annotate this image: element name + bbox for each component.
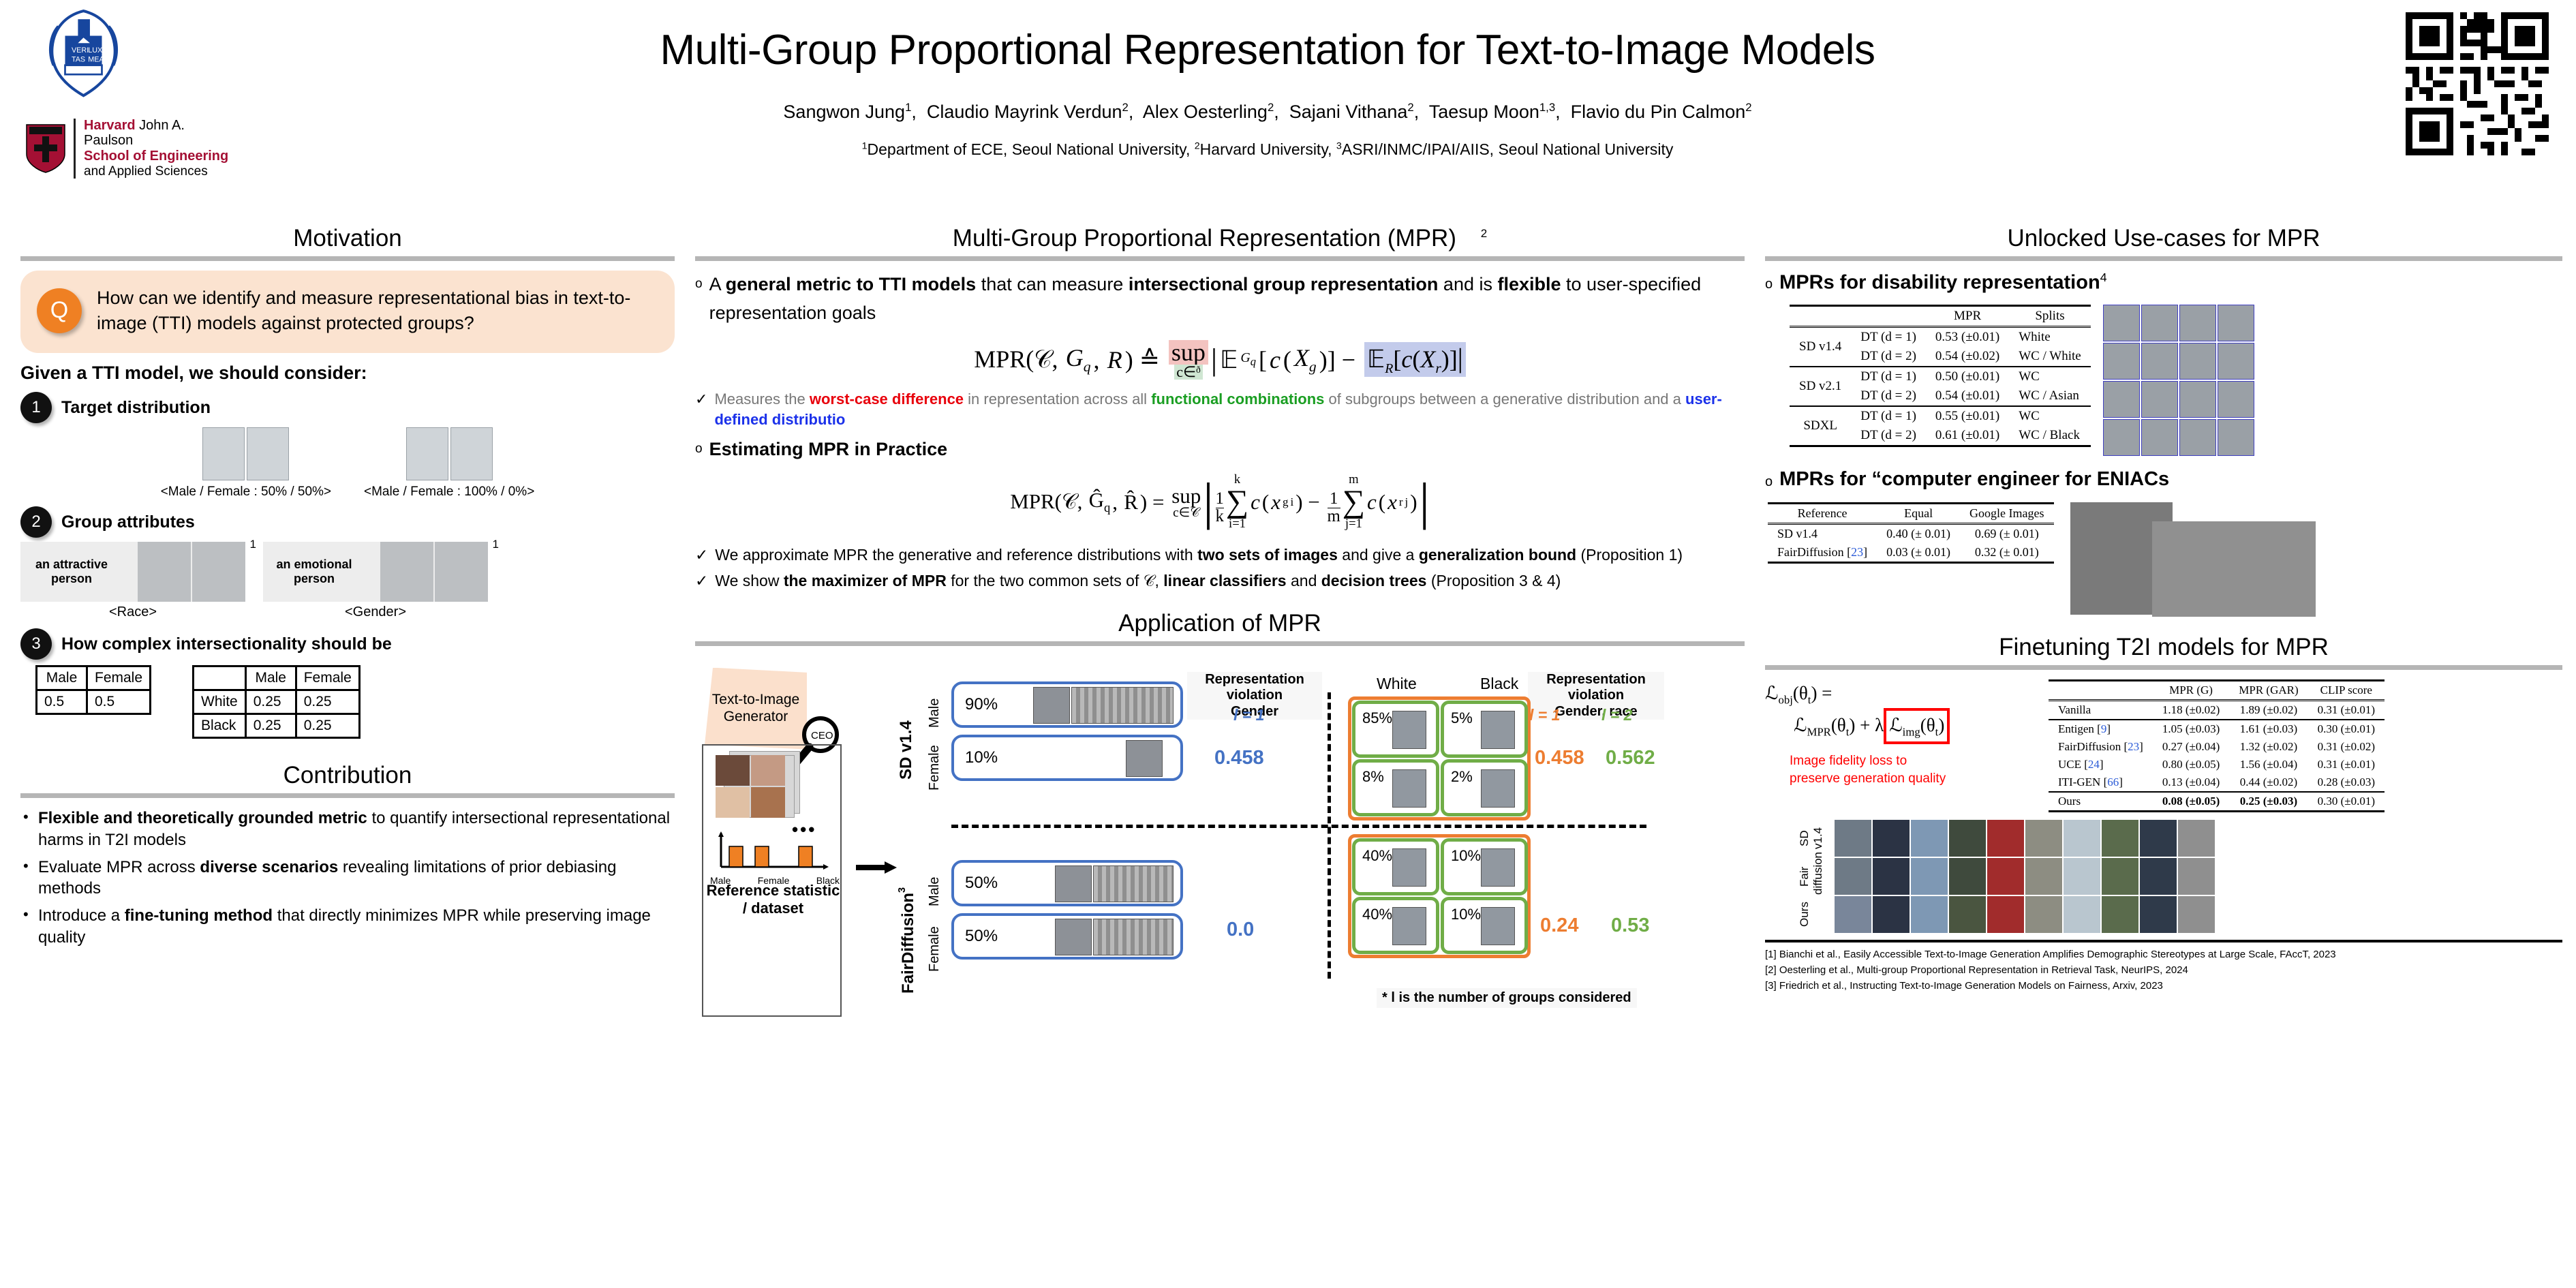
check2-b1: two sets of images	[1197, 546, 1338, 564]
photo-thumb	[1481, 848, 1515, 887]
l-value-2-gr: l = 2	[1601, 706, 1632, 724]
col-google: Google Images	[1960, 504, 2053, 524]
gender-label-female-sd: Female	[927, 737, 942, 791]
loss-line-2: ℒMPR(θt) + λ ℒimg(θt)	[1794, 708, 2044, 743]
attribute-prompt-2: an emotional person	[263, 557, 365, 586]
cell-mpr: 0.54 (±0.02)	[1926, 347, 2009, 367]
check-icon: ✓	[695, 544, 708, 566]
photo-wheelchair	[2141, 381, 2178, 418]
cell-model-sdxl: SDXL	[1790, 406, 1851, 446]
cell-name-text: FairDiffusion	[1777, 545, 1844, 559]
grid-cell-fd-black-female: 10%	[1441, 897, 1528, 954]
usecase-bullet-disability: o MPRs for disability representation4	[1765, 271, 2562, 298]
table-row: 0.5 0.5	[37, 690, 151, 714]
cell-mpr: 0.54 (±0.01)	[1926, 386, 2009, 406]
target-pair-2: <Male / Female : 100% / 0%>	[364, 427, 534, 500]
photo-thumb	[1481, 907, 1515, 945]
cell-method-entigen: Entigen [9]	[2049, 720, 2153, 738]
col-dt	[1851, 306, 1926, 327]
check3-b2: linear classifiers	[1163, 572, 1286, 589]
pct-value: 10%	[1451, 906, 1481, 923]
table-eniac-mpr: Reference Equal Google Images SD v1.4 0.…	[1768, 502, 2054, 564]
cell-splits: WC / Black	[2009, 426, 2090, 446]
target-caption-2: <Male / Female : 100% / 0%>	[364, 485, 534, 500]
grid-cell-sd-white-male: 85%	[1352, 701, 1439, 758]
photo-wheelchair	[2218, 419, 2254, 456]
cell-dt: DT (d = 1)	[1851, 327, 1926, 348]
photo-pair	[161, 427, 331, 480]
col-splits: Splits	[2009, 306, 2090, 327]
cell-splits: WC	[2009, 406, 2090, 426]
section-title-application: Application of MPR	[695, 610, 1745, 637]
check3-b3: decision trees	[1321, 572, 1427, 589]
photo-pope-1	[406, 427, 448, 480]
photo-generated	[1873, 820, 1910, 857]
contrib-bold-2: diverse scenarios	[200, 858, 338, 876]
grid-row-label-ours: Ours	[1798, 896, 1829, 933]
usecase-bullet-1-sup: 4	[2100, 271, 2107, 284]
target-pair-1: <Male / Female : 50% / 50%>	[161, 427, 331, 500]
photo-generated	[1835, 820, 1871, 857]
given-tti-line: Given a TTI model, we should consider:	[20, 363, 675, 384]
l-value-gender: l = 1	[1233, 706, 1264, 724]
wheelchair-photo-grid	[2103, 305, 2254, 456]
contrib-pre-2: Evaluate MPR across	[38, 858, 200, 876]
pct-value: 40%	[1362, 847, 1392, 865]
cell-splits: WC / Asian	[2009, 386, 2090, 406]
photo-thumb	[1481, 769, 1515, 808]
usecase-bullet-1-text: MPRs for disability representation	[1779, 272, 2100, 294]
column-header-white: White	[1377, 675, 1417, 693]
col-reference: Reference	[1768, 504, 1877, 524]
col-mpr-gar: MPR (GAR)	[2229, 681, 2307, 701]
cell-clip: 0.31 (±0.02)	[2308, 738, 2385, 756]
pct-value-fd-male: 50%	[965, 874, 998, 893]
motivation-question-box: Q How can we identify and measure repres…	[20, 271, 675, 353]
photo-emotional-1	[380, 542, 433, 602]
page-title: Multi-Group Proportional Representation …	[436, 26, 2099, 74]
photo-generated	[2064, 820, 2100, 857]
photo-attractive-male	[138, 542, 191, 602]
contrib-bold-1: Flexible and theoretically grounded metr…	[38, 809, 367, 827]
table-row: Reference Equal Google Images	[1768, 504, 2054, 524]
grid-cell-sd-black-male: 5%	[1441, 701, 1528, 758]
col-mpr: MPR	[1926, 306, 2009, 327]
photo-generated	[1949, 896, 1986, 933]
table-row: MPR (G) MPR (GAR) CLIP score	[2049, 681, 2385, 701]
attribute-card-emotional: an emotional person 1	[263, 542, 488, 602]
grid-row-label-fairdiffusion: Fair diffusion	[1798, 858, 1829, 895]
usecase-bullet-eniac: o MPRs for “computer engineer for ENIACs	[1765, 468, 2562, 495]
grid-cell-sd-black-female: 2%	[1441, 759, 1528, 816]
cell-model-sd21: SD v2.1	[1790, 367, 1851, 406]
photo-wheelchair	[2179, 343, 2216, 380]
citation-ref[interactable]: 9	[2101, 722, 2107, 735]
consideration-label-2: Group attributes	[61, 512, 195, 532]
column-center: Multi-Group Proportional Representation …	[695, 225, 1745, 1037]
harvard-seas-logo: Harvard John A. Paulson School of Engine…	[26, 106, 230, 191]
photo-generated	[1835, 858, 1871, 895]
section-rule	[20, 256, 675, 261]
consideration-item-1: 1 Target distribution	[20, 392, 675, 423]
photo-generated	[2140, 896, 2177, 933]
photo-generated	[1987, 820, 2024, 857]
cell-black-male: 0.25	[245, 714, 296, 738]
photo-row	[2103, 419, 2254, 456]
photo-attractive-female	[192, 542, 245, 602]
cell-white-female: 0.25	[296, 690, 359, 714]
photo-thumb	[1126, 740, 1163, 777]
pct-value: 8%	[1362, 768, 1384, 786]
attribute-footnote-1: 1	[250, 538, 256, 551]
photo-generated	[2064, 858, 2100, 895]
reference-bar-chart	[716, 831, 831, 878]
table-row	[1768, 563, 2054, 564]
cell-row-label-white: White	[194, 690, 246, 714]
check2-b2: generalization bound	[1419, 546, 1576, 564]
gender-label-female-fd: Female	[927, 919, 942, 972]
photo-emotional-2	[435, 542, 488, 602]
pct-value: 2%	[1451, 768, 1473, 786]
photo-row	[2103, 343, 2254, 380]
photo-wheelchair	[2103, 305, 2140, 341]
photo-wheelchair	[2218, 305, 2254, 341]
citation-ref[interactable]: 23	[1851, 545, 1863, 559]
institution-logos: VERI LUX TAS MEA Harvard John A. Paulson…	[20, 7, 232, 204]
contribution-list: Flexible and theoretically grounded metr…	[20, 808, 675, 948]
photo-generated	[1911, 896, 1948, 933]
photo-thumb	[1392, 848, 1426, 887]
group-attribute-cards: an attractive person 1 an emotional pers…	[20, 542, 675, 602]
list-item: Flexible and theoretically grounded metr…	[20, 808, 675, 850]
check3-pre: We show	[715, 572, 784, 589]
check2-pre: We approximate MPR the generative and re…	[715, 546, 1197, 564]
photo-wheelchair	[2141, 419, 2178, 456]
section-title-mpr: Multi-Group Proportional Representation …	[695, 225, 1745, 252]
pct-value: 10%	[1451, 847, 1481, 865]
photo-thumb	[1392, 769, 1426, 808]
references-list: [1] Bianchi et al., Easily Accessible Te…	[1765, 947, 2562, 994]
pct-value: 40%	[1362, 906, 1392, 923]
consideration-item-3: 3 How complex intersectionality should b…	[20, 628, 675, 660]
attribute-card-attractive: an attractive person 1	[20, 542, 245, 602]
violation-fd-l2: 0.53	[1611, 915, 1649, 937]
photo-pope-2	[450, 427, 493, 480]
violation-sd-l2: 0.562	[1606, 747, 1655, 769]
table-row: UCE [24] 0.80 (±0.05) 1.56 (±0.04) 0.31 …	[2049, 756, 2385, 773]
loss-line-1: ℒobj(θt) =	[1765, 679, 2044, 708]
cell-header-female: Female	[296, 666, 359, 690]
cell-splits: WC / White	[2009, 347, 2090, 367]
author-list: Sangwon Jung1, Claudio Mayrink Verdun2, …	[436, 101, 2099, 123]
grid-row-label-sd14: SD v1.4	[1798, 820, 1829, 857]
mpr-bullet-2-label: Estimating MPR in Practice	[709, 435, 948, 464]
cell-male-value: 0.5	[37, 690, 87, 714]
cell-method-vanilla: Vanilla	[2049, 701, 2153, 720]
cell-method-uce: UCE [24]	[2049, 756, 2153, 773]
number-badge-2: 2	[20, 506, 52, 538]
mpr-check-1: ✓ Measures the worst-case difference in …	[695, 389, 1745, 431]
qr-code[interactable]	[2406, 12, 2549, 155]
model-label-sd14: SD v1.4	[897, 684, 916, 780]
photo-thumb	[1055, 919, 1092, 955]
section-rule	[20, 793, 675, 798]
diagram-footnote: * l is the number of groups considered	[1377, 988, 1637, 1008]
method-name: Entigen	[2058, 722, 2094, 735]
loss-img-term-highlight: ℒimg(θt)	[1884, 708, 1950, 743]
photo-row	[2103, 305, 2254, 341]
consideration-item-2: 2 Group attributes	[20, 506, 675, 538]
col-clip: CLIP score	[2308, 681, 2385, 701]
photo-wheelchair	[2179, 419, 2216, 456]
affiliation-list: 1Department of ECE, Seoul National Unive…	[436, 140, 2099, 159]
grid-row-labels: SD v1.4 Fair diffusion Ours	[1798, 820, 1829, 933]
check2-mid: and give a	[1338, 546, 1419, 564]
table-row: SD v2.1 DT (d = 1) 0.50 (±0.01) WC	[1790, 367, 2091, 386]
column-header-black: Black	[1480, 675, 1518, 693]
photo-wheelchair	[2103, 419, 2140, 456]
cell-equal: 0.03 (± 0.01)	[1877, 543, 1960, 563]
cell-mpr: 0.50 (±0.01)	[1926, 367, 2009, 386]
svg-text:MEA: MEA	[88, 55, 104, 63]
list-item: Evaluate MPR across diverse scenarios re…	[20, 857, 675, 900]
photo-face-4	[751, 787, 785, 818]
table-row: MPR Splits	[1790, 306, 2091, 327]
photo-thumb	[1481, 711, 1515, 749]
cell-method-itigen: ITI-GEN [66]	[2049, 773, 2153, 792]
reference-dataset-box: ••• Male Female Black Reference statisti…	[702, 744, 842, 1017]
cell-gar: 1.32 (±0.02)	[2229, 738, 2307, 756]
cell-model-sd14: SD v1.4	[1790, 327, 1851, 367]
column-right: Unlocked Use-cases for MPR o MPRs for di…	[1765, 225, 2562, 994]
model-label-fairdiffusion: FairDiffusion3	[897, 864, 918, 994]
flow-arrow-icon	[856, 860, 897, 875]
cell-g: 1.05 (±0.03)	[2153, 720, 2229, 738]
cell-splits: White	[2009, 327, 2090, 348]
photo-generated	[1949, 820, 1986, 857]
cell-gar-ours: 0.25 (±0.03)	[2229, 792, 2307, 812]
check1-red: worst-case difference	[810, 390, 964, 408]
pct-bar-fd-female: 50%	[951, 913, 1183, 960]
cell-mpr: 0.53 (±0.01)	[1926, 327, 2009, 348]
cell-dt: DT (d = 2)	[1851, 426, 1926, 446]
photo-generated	[2025, 820, 2062, 857]
cell-gar: 0.44 (±0.02)	[2229, 773, 2307, 792]
pct-bar-sd-female: 10%	[951, 735, 1183, 781]
logo-applied: and Applied Sciences	[84, 164, 230, 179]
photo-generated	[1949, 858, 1986, 895]
table-row: SD v1.4 DT (d = 1) 0.53 (±0.01) White	[1790, 327, 2091, 348]
reference-item: [2] Oesterling et al., Multi-group Propo…	[1765, 962, 2562, 978]
table-row: White 0.25 0.25	[194, 690, 360, 714]
pct-value: 5%	[1451, 709, 1473, 727]
cell-row-label-black: Black	[194, 714, 246, 738]
reference-face-grid	[716, 755, 787, 818]
intersectionality-tables: Male Female 0.5 0.5 Male Female White 0.…	[20, 665, 675, 739]
section-title-footnote: 2	[1481, 227, 1487, 240]
photo-row	[2103, 381, 2254, 418]
table-row: Male Female	[194, 666, 360, 690]
mpr-b1-mid2: and is	[1438, 274, 1497, 294]
contrib-pre-3: Introduce a	[38, 906, 125, 925]
cell-method-ours: Ours	[2049, 792, 2153, 812]
table-bottom-rule	[1768, 563, 2054, 564]
check1-mid2: of subgroups between a generative distri…	[1324, 390, 1685, 408]
cell-clip: 0.31 (±0.01)	[2308, 756, 2385, 773]
cell-splits: WC	[2009, 367, 2090, 386]
citation-ref[interactable]: 23	[2128, 740, 2139, 753]
cell-female-value: 0.5	[87, 690, 151, 714]
table-row: Male Female	[37, 666, 151, 690]
mpr-b1-bold2: intersectional group representation	[1129, 274, 1439, 294]
cell-gar: 1.56 (±0.04)	[2229, 756, 2307, 773]
cell-header-male: Male	[245, 666, 296, 690]
photo-face-1	[716, 755, 750, 786]
grid-cell-fd-white-male: 40%	[1352, 838, 1439, 895]
check3-mid: for the two common sets of 𝒞,	[947, 572, 1163, 589]
photo-generated	[1873, 858, 1910, 895]
table-row: SD v1.4 0.40 (± 0.01) 0.69 (± 0.01)	[1768, 524, 2054, 544]
bullet-marker-icon: o	[1765, 271, 1773, 298]
table-row: Vanilla 1.18 (±0.02) 1.89 (±0.02) 0.31 (…	[2049, 701, 2385, 720]
photo-thumb	[1392, 711, 1426, 749]
snu-crest-icon: VERI LUX TAS MEA	[37, 8, 129, 100]
method-name: ITI-GEN	[2058, 776, 2100, 788]
poster-header: VERI LUX TAS MEA Harvard John A. Paulson…	[0, 0, 2576, 211]
number-badge-1: 1	[20, 392, 52, 423]
section-rule	[1765, 256, 2562, 261]
table-row: Entigen [9] 1.05 (±0.03) 1.61 (±0.03) 0.…	[2049, 720, 2385, 738]
cell-method-fairdiffusion: FairDiffusion [23]	[2049, 738, 2153, 756]
check3-rest: (Proposition 3 & 4)	[1426, 572, 1561, 589]
formula-mpr-1: MPR(𝒞, Gq, R) ≙ sup c∈ᶞ | 𝔼Gq[c(Xg)] − 𝔼…	[974, 340, 1466, 380]
photo-generated	[2140, 858, 2177, 895]
mpr-b1-pre: A	[709, 274, 726, 294]
target-caption-1: <Male / Female : 50% / 50%>	[161, 485, 331, 500]
photo-wheelchair	[2141, 305, 2178, 341]
photo-thumb	[1392, 907, 1426, 945]
cell-name-fairdiffusion: FairDiffusion [23]	[1768, 543, 1877, 563]
table-bottom-rule	[2049, 812, 2385, 813]
check-icon: ✓	[695, 389, 707, 431]
cell-mpr: 0.55 (±0.01)	[1926, 406, 2009, 426]
target-distribution-examples: <Male / Female : 50% / 50%> <Male / Fema…	[20, 427, 675, 500]
photo-wheelchair	[2103, 381, 2140, 418]
table-row: FairDiffusion [23] 0.27 (±0.04) 1.32 (±0…	[2049, 738, 2385, 756]
photo-generated	[1835, 896, 1871, 933]
svg-text:LUX: LUX	[88, 46, 102, 55]
bullet-marker-icon: o	[1765, 468, 1773, 495]
motivation-question-text: How can we identify and measure represen…	[97, 286, 658, 335]
photo-pair	[364, 427, 534, 480]
cell-dt: DT (d = 1)	[1851, 367, 1926, 386]
photo-wheelchair	[2179, 381, 2216, 418]
image-grid	[1835, 820, 2215, 933]
attribute-prompt-1: an attractive person	[20, 557, 123, 586]
gender-label-male-fd: Male	[927, 865, 942, 906]
photo-generated	[2140, 820, 2177, 857]
section-title-contribution: Contribution	[20, 762, 675, 789]
cell-header-female: Female	[87, 666, 151, 690]
photo-face-3	[716, 787, 750, 818]
pct-bar-sd-male: 90%	[951, 681, 1183, 728]
photo-generated	[1911, 820, 1948, 857]
photo-thumb	[1033, 687, 1070, 724]
pct-value: 85%	[1362, 709, 1392, 727]
bullet-marker-icon: o	[695, 435, 703, 464]
photo-male-executive	[202, 427, 245, 480]
cell-g: 0.80 (±0.05)	[2153, 756, 2229, 773]
table-row: Ours 0.08 (±0.05) 0.25 (±0.03) 0.30 (±0.…	[2049, 792, 2385, 812]
attribute-caption-race: <Race>	[20, 604, 245, 620]
citation-ref[interactable]: 24	[2088, 758, 2100, 771]
table-bottom-rule	[1790, 446, 2091, 448]
photo-wheelchair	[2179, 305, 2216, 341]
logo-divider	[74, 119, 76, 179]
section-title-usecases: Unlocked Use-cases for MPR	[1765, 225, 2562, 252]
number-badge-3: 3	[20, 628, 52, 660]
citation-ref[interactable]: 66	[2107, 776, 2119, 788]
grid-cell-fd-white-female: 40%	[1352, 897, 1439, 954]
attribute-captions: <Race> <Gender>	[20, 602, 675, 620]
check1-mid: in representation across all	[964, 390, 1151, 408]
table-row: ITI-GEN [66] 0.13 (±0.04) 0.44 (±0.02) 0…	[2049, 773, 2385, 792]
table-row: Black 0.25 0.25	[194, 714, 360, 738]
cell-header-male: Male	[37, 666, 87, 690]
cell-dt: DT (d = 1)	[1851, 406, 1926, 426]
svg-text:VERI: VERI	[72, 46, 89, 55]
pct-value-sd-female: 10%	[965, 748, 998, 767]
attribute-footnote-2: 1	[493, 538, 499, 551]
consideration-label-1: Target distribution	[61, 398, 211, 418]
formula-sup-subscript: c∈ᶞ	[1174, 365, 1202, 380]
references-rule	[1765, 940, 2562, 942]
svg-text:CEO: CEO	[811, 730, 833, 741]
col-mpr-g: MPR (G)	[2153, 681, 2229, 701]
stripes-fill	[1093, 865, 1174, 902]
cell-white-male: 0.25	[245, 690, 296, 714]
consideration-label-3: How complex intersectionality should be	[61, 634, 392, 654]
photo-generated	[1987, 858, 2024, 895]
check1-pre: Measures the	[714, 390, 809, 408]
photo-generated	[2178, 858, 2215, 895]
photo-thumb	[1055, 865, 1092, 902]
l-value-1-gr: l = 1	[1529, 706, 1560, 724]
photo-eniac-operators	[2152, 521, 2316, 617]
cell-google: 0.32 (± 0.01)	[1960, 543, 2053, 563]
method-name: FairDiffusion	[2058, 740, 2121, 753]
reference-caption: Reference statistic / dataset	[703, 882, 843, 918]
formula-sup-operator: sup	[1169, 340, 1208, 365]
cell-equal: 0.40 (± 0.01)	[1877, 524, 1960, 544]
cell-g: 1.18 (±0.02)	[2153, 701, 2229, 720]
check3-mid2: and	[1287, 572, 1321, 589]
reference-item: [3] Friedrich et al., Instructing Text-t…	[1765, 978, 2562, 994]
svg-text:TAS: TAS	[72, 55, 85, 63]
mpr-bullet-2: o Estimating MPR in Practice	[695, 435, 1745, 464]
pct-value-fd-female: 50%	[965, 927, 998, 946]
formula-mpr-2: MPR(𝒞, Ĝq, R̂) = supc∈𝒞 | 1k k∑i=1 c(xgi…	[1010, 472, 1430, 532]
table-simple-gender: Male Female 0.5 0.5	[35, 665, 151, 715]
loss-equation: ℒobj(θt) = ℒMPR(θt) + λ ℒimg(θt)	[1765, 679, 2044, 744]
cell-gar: 1.61 (±0.03)	[2229, 720, 2307, 738]
check3-b1: the maximizer of MPR	[784, 572, 947, 589]
horizontal-divider	[951, 825, 1646, 828]
cell-clip: 0.28 (±0.03)	[2308, 773, 2385, 792]
table-disability-mpr: MPR Splits SD v1.4 DT (d = 1) 0.53 (±0.0…	[1790, 305, 2091, 448]
grid-cell-sd-white-female: 8%	[1352, 759, 1439, 816]
section-title-motivation: Motivation	[20, 225, 675, 252]
